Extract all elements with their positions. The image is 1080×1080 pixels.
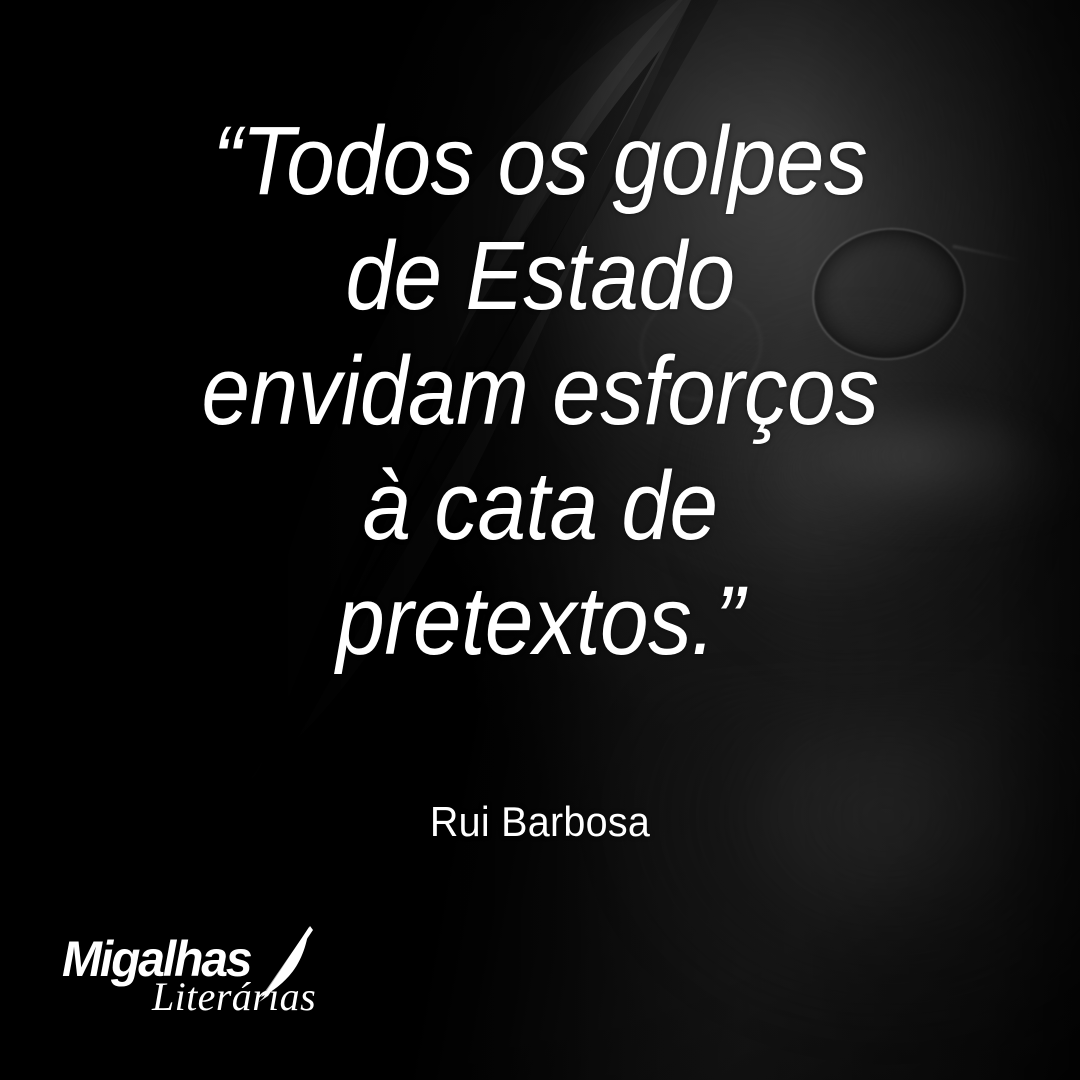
poster-content: “Todos os golpes de Estado envidam esfor… xyxy=(0,0,1080,1080)
quote-text: “Todos os golpes de Estado envidam esfor… xyxy=(54,103,1026,678)
brand-logo[interactable]: Migalhas Literárias xyxy=(60,928,320,1024)
quote-poster: “Todos os golpes de Estado envidam esfor… xyxy=(0,0,1080,1080)
logo-subtitle: Literárias xyxy=(152,977,316,1017)
quote-author: Rui Barbosa xyxy=(32,798,1047,846)
